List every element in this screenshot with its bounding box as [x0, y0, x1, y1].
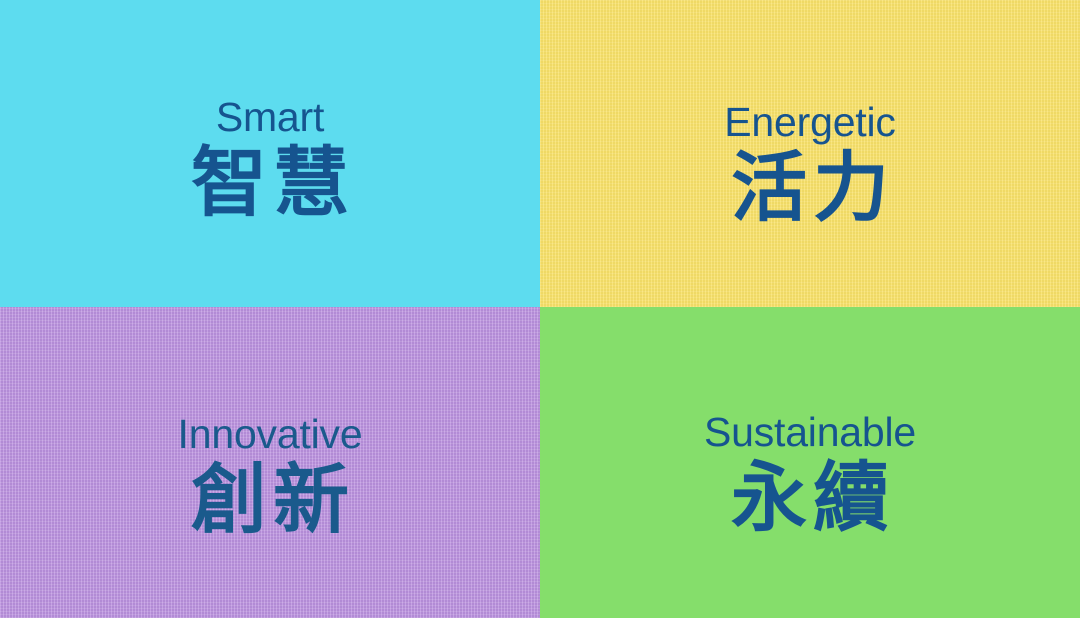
panel-label-zh-innovative: 創新 [185, 463, 355, 539]
panel-text-sustainable: Sustainable 永續 [540, 307, 1080, 537]
panel-label-zh-smart: 智慧 [185, 146, 355, 222]
panel-smart[interactable]: Smart 智慧 [0, 0, 540, 307]
panel-sustainable[interactable]: Sustainable 永續 [540, 307, 1080, 618]
panel-energetic[interactable]: Energetic 活力 [540, 0, 1080, 307]
brand-values-canvas: Smart 智慧 Energetic 活力 Innovative 創新 Sust… [0, 0, 1080, 618]
panel-label-en-energetic: Energetic [724, 102, 895, 143]
panel-label-zh-sustainable: 永續 [725, 461, 895, 537]
panel-label-en-innovative: Innovative [178, 414, 363, 455]
values-grid: Smart 智慧 Energetic 活力 Innovative 創新 Sust… [0, 0, 1080, 618]
panel-label-en-sustainable: Sustainable [704, 412, 916, 453]
panel-label-zh-energetic: 活力 [725, 151, 895, 227]
panel-text-innovative: Innovative 創新 [0, 307, 540, 539]
panel-text-energetic: Energetic 活力 [540, 0, 1080, 227]
panel-text-smart: Smart 智慧 [0, 0, 540, 222]
panel-label-en-smart: Smart [216, 97, 324, 138]
panel-innovative[interactable]: Innovative 創新 [0, 307, 540, 618]
